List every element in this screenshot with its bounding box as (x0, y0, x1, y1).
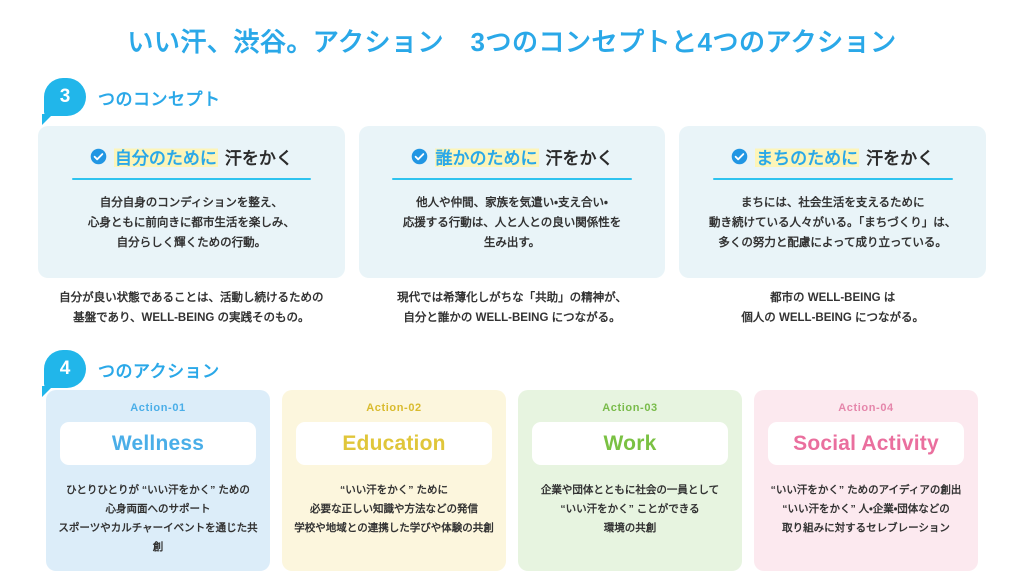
action-card-2-name: Education (296, 422, 492, 465)
concept-section-header: 3 つのコンセプト (44, 78, 221, 116)
concept-card-2-title-plain: 汗をかく (546, 144, 614, 169)
action-card-1-name: Wellness (60, 422, 256, 465)
concept-card-1-divider (72, 178, 312, 180)
action-card-2-tag: Action-02 (366, 402, 422, 414)
concept-card-1-title-highlight: 自分のために (114, 144, 218, 169)
action-card-1[interactable]: Action-01 Wellness ひとりひとりが “いい汗をかく” ための … (46, 390, 270, 571)
check-circle-icon (731, 148, 748, 165)
concept-caption-1: 自分が良い状態であることは、活動し続けるための 基盤であり、WELL-BEING… (38, 288, 345, 328)
concept-card-1: 自分のために汗をかく 自分自身のコンディションを整え、 心身ともに前向きに都市生… (38, 126, 345, 278)
action-card-1-tag: Action-01 (130, 402, 186, 414)
concept-caption-3: 都市の WELL-BEING は 個人の WELL-BEING につながる。 (679, 288, 986, 328)
concept-card-3-title-plain: 汗をかく (866, 144, 934, 169)
action-card-4[interactable]: Action-04 Social Activity “いい汗をかく” ためのアイ… (754, 390, 978, 571)
concept-caption-2: 現代では希薄化しがちな「共助」の精神が、 自分と誰かの WELL-BEING に… (359, 288, 666, 328)
action-card-4-body: “いい汗をかく” ためのアイディアの創出 “いい汗をかく” 人・企業・団体などの… (771, 481, 962, 538)
action-card-3-name: Work (532, 422, 728, 465)
concept-card-3-divider (713, 178, 953, 180)
action-card-list: Action-01 Wellness ひとりひとりが “いい汗をかく” ための … (46, 390, 978, 571)
concept-section-label: つのコンセプト (98, 85, 221, 110)
action-card-3[interactable]: Action-03 Work 企業や団体とともに社会の一員として “いい汗をかく… (518, 390, 742, 571)
concept-card-1-heading: 自分のために汗をかく (90, 144, 293, 169)
action-card-3-body: 企業や団体とともに社会の一員として “いい汗をかく” ことができる 環境の共創 (541, 481, 719, 538)
page-title: いい汗、渋谷。アクション 3つのコンセプトと4つのアクション (0, 22, 1024, 59)
concept-card-2-title-highlight: 誰かのために (435, 144, 539, 169)
action-count-badge: 4 (44, 350, 86, 388)
action-card-1-body: ひとりひとりが “いい汗をかく” ための 心身両面へのサポート スポーツやカルチ… (56, 481, 260, 557)
concept-card-1-body: 自分自身のコンディションを整え、 心身ともに前向きに都市生活を楽しみ、 自分らし… (88, 193, 295, 253)
concept-card-1-title-plain: 汗をかく (225, 144, 293, 169)
concept-card-2-heading: 誰かのために汗をかく (411, 144, 614, 169)
concept-count-badge-number: 3 (60, 86, 71, 108)
concept-card-2: 誰かのために汗をかく 他人や仲間、家族を気遣い・支え合い・ 応援する行動は、人と… (359, 126, 666, 278)
concept-card-3-title-highlight: まちのために (755, 144, 859, 169)
action-count-badge-number: 4 (60, 358, 71, 380)
action-section-header: 4 つのアクション (44, 350, 220, 388)
action-card-4-name: Social Activity (768, 422, 964, 465)
check-circle-icon (411, 148, 428, 165)
action-card-2[interactable]: Action-02 Education “いい汗をかく” ために 必要な正しい知… (282, 390, 506, 571)
concept-card-2-divider (392, 178, 632, 180)
action-card-3-tag: Action-03 (602, 402, 658, 414)
check-circle-icon (90, 148, 107, 165)
concept-card-2-body: 他人や仲間、家族を気遣い・支え合い・ 応援する行動は、人と人との良い関係性を 生… (403, 193, 621, 253)
action-card-4-tag: Action-04 (838, 402, 894, 414)
concept-count-badge: 3 (44, 78, 86, 116)
concept-card-list: 自分のために汗をかく 自分自身のコンディションを整え、 心身ともに前向きに都市生… (38, 126, 986, 278)
concept-card-3-heading: まちのために汗をかく (731, 144, 934, 169)
concept-caption-list: 自分が良い状態であることは、活動し続けるための 基盤であり、WELL-BEING… (38, 288, 986, 328)
concept-card-3: まちのために汗をかく まちには、社会生活を支えるために 動き続けている人々がいる… (679, 126, 986, 278)
action-section-label: つのアクション (98, 357, 220, 382)
concept-card-3-body: まちには、社会生活を支えるために 動き続けている人々がいる。「まちづくり」は、 … (709, 193, 956, 253)
action-card-2-body: “いい汗をかく” ために 必要な正しい知識や方法などの発信 学校や地域との連携し… (294, 481, 493, 538)
